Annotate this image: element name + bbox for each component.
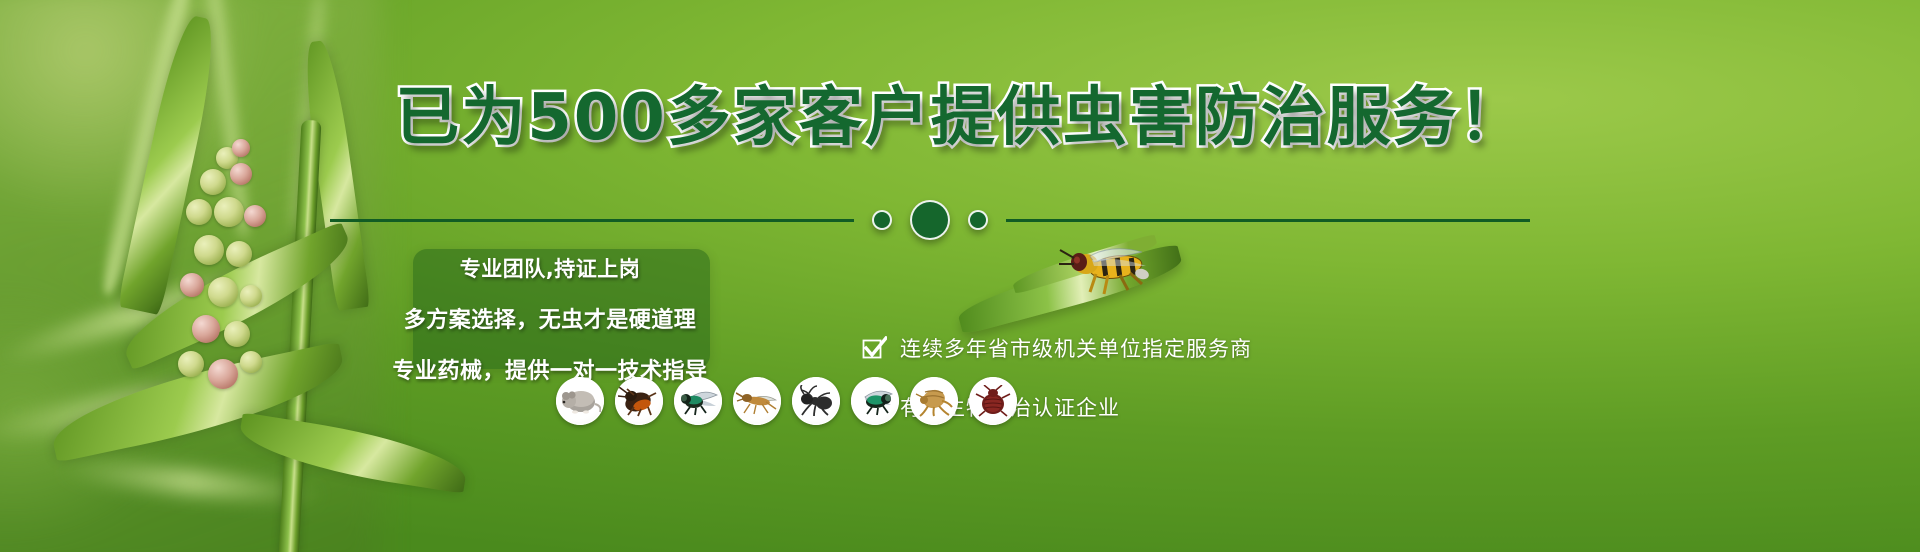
hoverfly-photo [1046,244,1166,308]
decorative-divider [330,192,1530,248]
divider-line-left [330,219,854,222]
flea-icon[interactable] [910,377,958,425]
slogan-line: 多方案选择，无虫才是硬道理 [340,302,760,334]
plant-leaf [236,412,470,493]
blowfly-icon[interactable] [851,377,899,425]
divider-line-right [1006,219,1530,222]
page-title: 已为500多家客户提供虫害防治服务！ [0,86,1920,150]
flower-spike [178,145,308,415]
slogan-line: 专业团队,持证上岗 [340,253,760,283]
checkbox-checked-icon [862,336,887,361]
mouse-icon[interactable] [556,377,604,425]
mosquito-icon[interactable] [733,377,781,425]
credential-text: 连续多年省市级机关单位指定服务商 [900,333,1252,363]
divider-dot-small [872,210,892,230]
ant-icon[interactable] [792,377,840,425]
list-item: 连续多年省市级机关单位指定服务商 [862,333,1252,363]
cockroach-icon[interactable] [615,377,663,425]
slogan-list: 专业团队,持证上岗 多方案选择，无虫才是硬道理 专业药械，提供一对一技术指导 [340,253,760,385]
promo-banner: 已为500多家客户提供虫害防治服务！ 专业团队,持证上岗 多方案选择，无虫才是硬… [0,0,1920,552]
divider-dot-small [968,210,988,230]
fly-icon[interactable] [674,377,722,425]
bedbug-icon[interactable] [969,377,1017,425]
pest-icon-row [556,377,1017,425]
divider-dot-large [910,200,950,240]
